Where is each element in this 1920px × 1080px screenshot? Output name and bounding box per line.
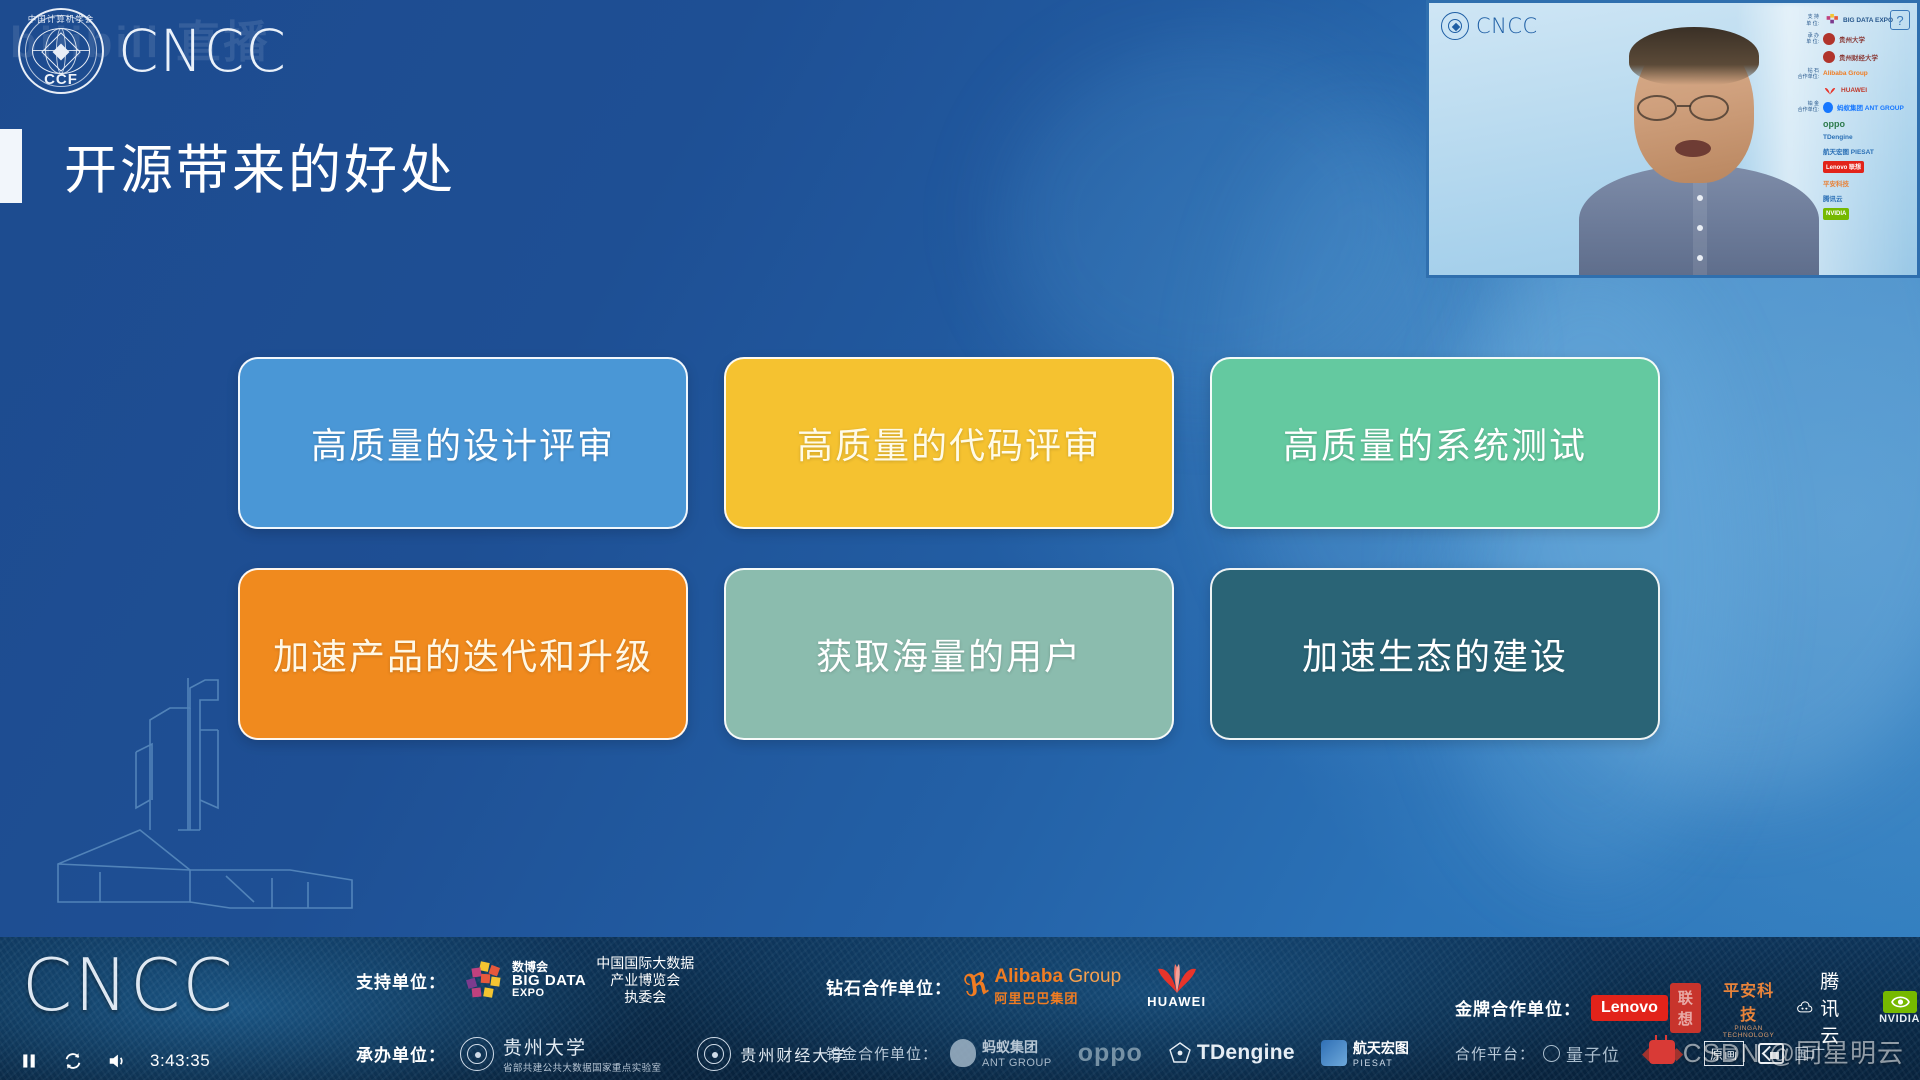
bigdata-expo-en2: EXPO	[512, 988, 586, 999]
huawei-flower-icon	[1823, 85, 1837, 96]
benefit-card-1: 高质量的设计评审	[238, 357, 688, 529]
ccf-seal-icon: 中国计算机学会 CCF	[18, 8, 104, 94]
alibaba-group-word: Group	[1063, 966, 1121, 987]
alibaba-icon: ℜ	[962, 972, 990, 999]
sponsor-label-support: 支持单位：	[356, 968, 446, 993]
huawei-logo: HUAWEI	[1147, 963, 1206, 1009]
tdengine-wordmark: TDengine	[1197, 1041, 1295, 1065]
ant-icon	[950, 1039, 976, 1067]
sponsor-row-platinum: 铂金合作单位： 蚂蚁集团 ANT GROUP oppo TDengine	[826, 1037, 1409, 1069]
piesat-logo: 航天宏图 PIESAT	[1321, 1038, 1409, 1068]
oppo-logo: oppo	[1078, 1039, 1143, 1068]
piesat-en: PIESAT	[1353, 1058, 1409, 1068]
piesat-cn: 航天宏图	[1353, 1038, 1409, 1058]
webcam-label-support: 支 持单 位:	[1793, 14, 1819, 27]
shirt-button	[1697, 225, 1703, 231]
ant-en: ANT GROUP	[982, 1057, 1052, 1069]
csdn-logo-icon	[1649, 1040, 1675, 1064]
shirt-button	[1697, 255, 1703, 261]
webcam-lenovo-label: Lenovo 联想	[1823, 161, 1864, 173]
slide-title-group: 开源带来的好处	[0, 128, 456, 204]
help-icon[interactable]: ?	[1890, 10, 1910, 30]
ant-group-logo: 蚂蚁集团 ANT GROUP	[950, 1037, 1052, 1069]
benefit-card-6: 加速生态的建设	[1210, 568, 1660, 740]
speaker-webcam-overlay[interactable]: CNCC ? 支 持单 位: BIG DATA EXPO 承 办单 位: 贵州大…	[1426, 0, 1920, 278]
huawei-wordmark: HUAWEI	[1147, 994, 1206, 1009]
qbitai-wordmark: 量子位	[1566, 1041, 1620, 1066]
video-player-controls[interactable]: 3:43:35	[18, 1050, 210, 1072]
speaker-glasses-left	[1637, 95, 1677, 121]
webcam-label-diamond: 钻 石合作单位:	[1793, 68, 1819, 81]
ccf-seal-icon	[1441, 12, 1469, 40]
tdengine-icon	[1169, 1042, 1191, 1064]
bigdata-expo-icon	[1823, 13, 1839, 28]
webcam-sponsor-diamond: 钻 石合作单位: Alibaba Group	[1793, 68, 1911, 81]
university-seal-icon	[460, 1037, 494, 1071]
playback-time: 3:43:35	[150, 1051, 210, 1071]
webcam-sponsor-huawei: HUAWEI	[1793, 85, 1911, 96]
lenovo-cn: 联想	[1670, 983, 1701, 1033]
volume-icon[interactable]	[106, 1050, 128, 1072]
webcam-pingan-label: 平安科技	[1823, 178, 1849, 188]
webcam-sponsor-host: 承 办单 位: 贵州大学	[1793, 33, 1911, 46]
speaker-glasses-bridge	[1677, 105, 1691, 107]
speaker-figure	[1579, 25, 1819, 275]
webcam-nvidia-label: NVIDIA	[1823, 208, 1849, 220]
bigdata-expo-logo: 数博会 BIG DATA EXPO	[460, 960, 586, 1000]
webcam-caijing-label: 贵州财经大学	[1839, 52, 1878, 62]
webcam-sponsor-oppo: oppo	[1793, 119, 1911, 129]
pause-icon[interactable]	[18, 1050, 40, 1072]
webcam-sponsor-tdengine: TDengine	[1793, 134, 1911, 141]
sponsor-row-support: 支持单位： 数博会 BIG DATA EXPO	[356, 955, 694, 1005]
webcam-sponsor-tencent: 腾讯云	[1793, 193, 1911, 203]
alibaba-en: Alibaba	[994, 966, 1063, 987]
speaker-mouth	[1675, 140, 1711, 157]
webcam-sponsor-platinum: 铂 金合作单位: 蚂蚁集团 ANT GROUP	[1793, 101, 1911, 114]
committee-line-3: 执委会	[596, 989, 694, 1006]
webcam-guizhou-label: 贵州大学	[1839, 34, 1865, 44]
pingan-cn: 平安科技	[1721, 977, 1777, 1025]
qbitai-icon	[1543, 1045, 1560, 1062]
piesat-icon	[1321, 1040, 1347, 1066]
webcam-sponsor-piesat: 航天宏图 PIESAT	[1793, 146, 1911, 156]
university-seal-icon	[697, 1037, 731, 1071]
webcam-alibaba-label: Alibaba Group	[1823, 70, 1868, 77]
sponsor-row-host: 承办单位： 贵州大学 省部共建公共大数据国家重点实验室 贵州财经大学	[356, 1033, 848, 1074]
benefit-card-label: 高质量的代码评审	[797, 417, 1101, 469]
alibaba-cn: 阿里巴巴集团	[994, 988, 1121, 1007]
webcam-cncc-logo: CNCC	[1441, 12, 1538, 40]
ccf-org-name-cn: 中国计算机学会	[18, 13, 104, 25]
qbitai-logo: 量子位	[1543, 1041, 1620, 1066]
webcam-bigdata-label: BIG DATA EXPO	[1843, 17, 1893, 24]
nvidia-eye-icon	[1883, 991, 1917, 1013]
benefit-card-4: 加速产品的迭代和升级	[238, 568, 688, 740]
ccf-abbr: CCF	[18, 71, 104, 88]
slide-title: 开源带来的好处	[64, 128, 456, 204]
cncc-logo-lockup: 中国计算机学会 CCF CNCC	[18, 8, 287, 94]
benefit-card-label: 获取海量的用户	[816, 628, 1082, 680]
lenovo-logo: Lenovo 联想	[1591, 983, 1701, 1033]
benefit-card-5: 获取海量的用户	[724, 568, 1174, 740]
benefit-card-label: 加速生态的建设	[1302, 628, 1568, 680]
committee-line-1: 中国国际大数据	[596, 955, 694, 972]
ant-cn: 蚂蚁集团	[982, 1037, 1052, 1057]
webcam-label-host: 承 办单 位:	[1793, 33, 1819, 46]
webcam-sponsor-nvidia: NVIDIA	[1793, 208, 1911, 220]
nvidia-wordmark: NVIDIA	[1879, 1013, 1920, 1025]
sponsor-row-diamond: 钻石合作单位： ℜ Alibaba Group 阿里巴巴集团 HUAWEI	[826, 963, 1206, 1009]
university-seal-icon	[1823, 51, 1835, 63]
background-light-streak	[998, 40, 1418, 400]
bigdata-committee-text: 中国国际大数据 产业博览会 执委会	[596, 955, 694, 1005]
webcam-tdengine-label: TDengine	[1823, 134, 1853, 141]
sponsor-label-platform: 合作平台：	[1455, 1043, 1535, 1064]
loop-icon[interactable]	[62, 1050, 84, 1072]
lenovo-en: Lenovo	[1591, 995, 1668, 1021]
webcam-tencent-label: 腾讯云	[1823, 193, 1843, 203]
sponsor-footer-bar: CNCC 支持单位： 数博会 BIG DATA EXPO	[0, 937, 1920, 1080]
speaker-glasses-right	[1689, 95, 1729, 121]
csdn-watermark: CSDN @同星明云	[1649, 1033, 1904, 1070]
sponsor-label-host: 承办单位：	[356, 1041, 446, 1066]
webcam-sponsor-pingan: 平安科技	[1793, 178, 1911, 188]
benefit-card-3: 高质量的系统测试	[1210, 357, 1660, 529]
ant-icon	[1823, 102, 1833, 113]
guizhou-university-name: 贵州大学	[503, 1033, 661, 1060]
guizhou-university-logo: 贵州大学 省部共建公共大数据国家重点实验室	[460, 1033, 661, 1074]
nvidia-logo: NVIDIA	[1879, 991, 1920, 1025]
pingan-logo: 平安科技 PINGAN TECHNOLOGY	[1721, 977, 1777, 1039]
benefit-card-label: 加速产品的迭代和升级	[273, 628, 653, 680]
committee-line-2: 产业博览会	[596, 972, 694, 989]
guizhou-university-lab: 省部共建公共大数据国家重点实验室	[503, 1060, 661, 1074]
webcam-huawei-label: HUAWEI	[1841, 87, 1867, 94]
title-accent-bar	[0, 129, 22, 203]
benefit-card-2: 高质量的代码评审	[724, 357, 1174, 529]
sponsor-label-diamond: 钻石合作单位：	[826, 974, 952, 999]
webcam-sponsor-lenovo: Lenovo 联想	[1793, 161, 1911, 173]
webcam-ant-label: 蚂蚁集团 ANT GROUP	[1837, 102, 1904, 112]
shirt-button	[1697, 195, 1703, 201]
tdengine-logo: TDengine	[1169, 1041, 1295, 1065]
sponsor-label-gold: 金牌合作单位：	[1455, 995, 1581, 1020]
webcam-piesat-label: 航天宏图 PIESAT	[1823, 146, 1874, 156]
tencent-cloud-icon	[1796, 998, 1813, 1018]
sponsor-label-platinum: 铂金合作单位：	[826, 1043, 938, 1064]
webcam-label-platinum: 铂 金合作单位:	[1793, 101, 1819, 114]
cncc-footer-wordmark: CNCC	[22, 943, 235, 1027]
benefits-card-grid: 高质量的设计评审 高质量的代码评审 高质量的系统测试 加速产品的迭代和升级 获取…	[238, 357, 1660, 740]
webcam-sponsor-host2: 贵州财经大学	[1793, 51, 1911, 63]
university-seal-icon	[1823, 33, 1835, 45]
huawei-flower-icon	[1151, 963, 1203, 993]
webcam-cncc-wordmark: CNCC	[1476, 14, 1538, 38]
webcam-oppo-label: oppo	[1823, 119, 1845, 129]
speaker-hair	[1629, 27, 1759, 85]
csdn-watermark-text: CSDN @同星明云	[1683, 1033, 1904, 1070]
cncc-wordmark: CNCC	[118, 17, 287, 85]
webcam-sponsor-strip: 支 持单 位: BIG DATA EXPO 承 办单 位: 贵州大学 贵州财经大…	[1793, 13, 1911, 220]
benefit-card-label: 高质量的设计评审	[311, 417, 615, 469]
alibaba-logo: ℜ Alibaba Group 阿里巴巴集团	[964, 966, 1121, 1007]
bigdata-expo-en1: BIG DATA	[512, 973, 586, 988]
benefit-card-label: 高质量的系统测试	[1283, 417, 1587, 469]
bigdata-expo-icon	[460, 960, 504, 1000]
